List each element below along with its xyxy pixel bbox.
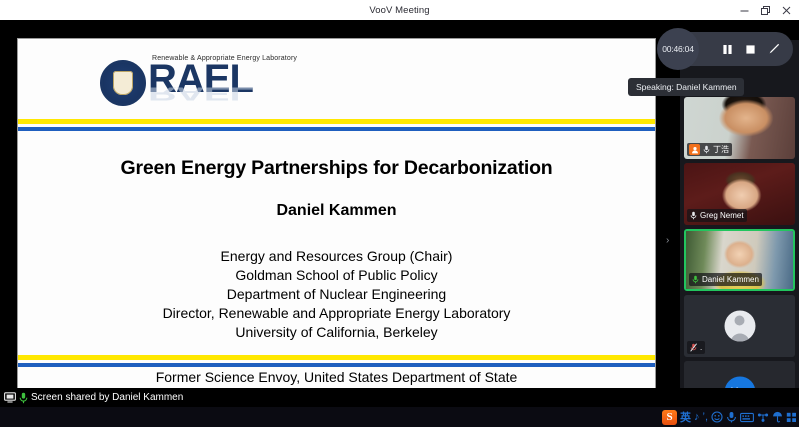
moon-mode-icon[interactable]: ♪ <box>694 411 700 423</box>
toolbox-icon[interactable] <box>757 412 769 423</box>
system-tray: S 英 ♪ ’, <box>662 407 797 427</box>
annotate-button[interactable] <box>767 42 781 56</box>
slide-accent-blue-bottom <box>18 363 655 367</box>
participant-tile[interactable]: Greg Nemet <box>684 163 795 225</box>
slide-envoy-line: Former Science Envoy, United States Depa… <box>18 369 655 385</box>
slide-accent-blue-top <box>18 127 655 131</box>
screen-share-statusbar: Screen shared by Daniel Kammen <box>0 388 799 407</box>
meeting-stage: Renewable & Appropriate Energy Laborator… <box>0 20 799 407</box>
affiliation-line: University of California, Berkeley <box>18 323 655 342</box>
umbrella-icon[interactable] <box>772 411 783 423</box>
slide-accent-yellow-bottom <box>18 355 655 360</box>
participant-label: Greg Nemet <box>687 209 747 222</box>
participant-name: Daniel Kammen <box>702 275 759 284</box>
window-title: VooV Meeting <box>369 5 429 16</box>
recording-timer-bubble: 00:46:04 <box>657 28 699 70</box>
affiliation-line: Energy and Resources Group (Chair) <box>18 247 655 266</box>
monitor-share-icon <box>4 392 16 403</box>
affiliation-line: Department of Nuclear Engineering <box>18 285 655 304</box>
default-avatar-icon <box>724 311 755 342</box>
pause-recording-button[interactable] <box>721 43 734 56</box>
active-speaker-label: Speaking: Daniel Kammen <box>628 78 744 96</box>
window-controls <box>734 0 797 20</box>
host-badge-icon <box>689 144 700 155</box>
minimize-button[interactable] <box>734 0 755 20</box>
slide-affiliations: Energy and Resources Group (Chair) Goldm… <box>18 247 655 342</box>
emoji-icon[interactable] <box>711 411 723 423</box>
microphone-muted-icon <box>689 210 698 221</box>
rael-logo-text: Renewable & Appropriate Energy Laborator… <box>148 55 297 118</box>
sogou-logo-icon[interactable]: S <box>662 410 677 425</box>
microphone-icon <box>19 392 28 404</box>
close-button[interactable] <box>776 0 797 20</box>
screen-share-status-text: Screen shared by Daniel Kammen <box>31 392 183 403</box>
chevron-right-icon[interactable]: › <box>666 236 669 246</box>
menu-grid-icon[interactable] <box>786 412 797 423</box>
participant-tile[interactable]: . <box>684 295 795 357</box>
stop-recording-button[interactable] <box>744 43 757 56</box>
restore-button[interactable] <box>755 0 776 20</box>
rael-acronym-reflection: RAEL <box>148 89 297 98</box>
window-titlebar: VooV Meeting <box>0 0 799 20</box>
punctuation-icon[interactable]: ’, <box>703 411 709 423</box>
affiliation-line: Goldman School of Public Policy <box>18 266 655 285</box>
participant-label: Daniel Kammen <box>689 273 762 286</box>
recording-elapsed-time: 00:46:04 <box>662 44 694 54</box>
slide-author: Daniel Kammen <box>18 202 655 220</box>
participant-tile[interactable]: 丁浩 <box>684 97 795 159</box>
shared-screen-slide[interactable]: Renewable & Appropriate Energy Laborator… <box>17 38 656 391</box>
participant-label: . <box>687 341 705 354</box>
participant-name: . <box>700 343 702 352</box>
voice-input-icon[interactable] <box>726 411 737 423</box>
uc-berkeley-seal-icon <box>100 60 146 106</box>
microphone-muted-icon <box>702 144 711 155</box>
windows-taskbar: S 英 ♪ ’, <box>0 407 799 427</box>
participant-name: 丁浩 <box>713 144 729 155</box>
microphone-muted-icon <box>689 342 698 353</box>
voov-meeting-window: VooV Meeting <box>0 0 799 427</box>
rael-logo: Renewable & Appropriate Energy Laborator… <box>100 55 297 118</box>
participant-rail: Speaking: Daniel Kammen › 丁浩 <box>680 40 799 427</box>
participant-label: 丁浩 <box>687 143 732 156</box>
input-mode-chinese-icon[interactable]: 英 <box>680 409 691 425</box>
affiliation-line: Director, Renewable and Appropriate Ener… <box>18 304 655 323</box>
slide-title: Green Energy Partnerships for Decarboniz… <box>18 157 655 180</box>
recording-toolbar: 00:46:04 <box>665 32 793 66</box>
slide-accent-yellow-top <box>18 119 655 124</box>
participant-name: Greg Nemet <box>700 211 744 220</box>
soft-keyboard-icon[interactable] <box>740 412 754 423</box>
participant-tile-active-speaker[interactable]: Daniel Kammen <box>684 229 795 291</box>
microphone-active-icon <box>691 274 700 285</box>
